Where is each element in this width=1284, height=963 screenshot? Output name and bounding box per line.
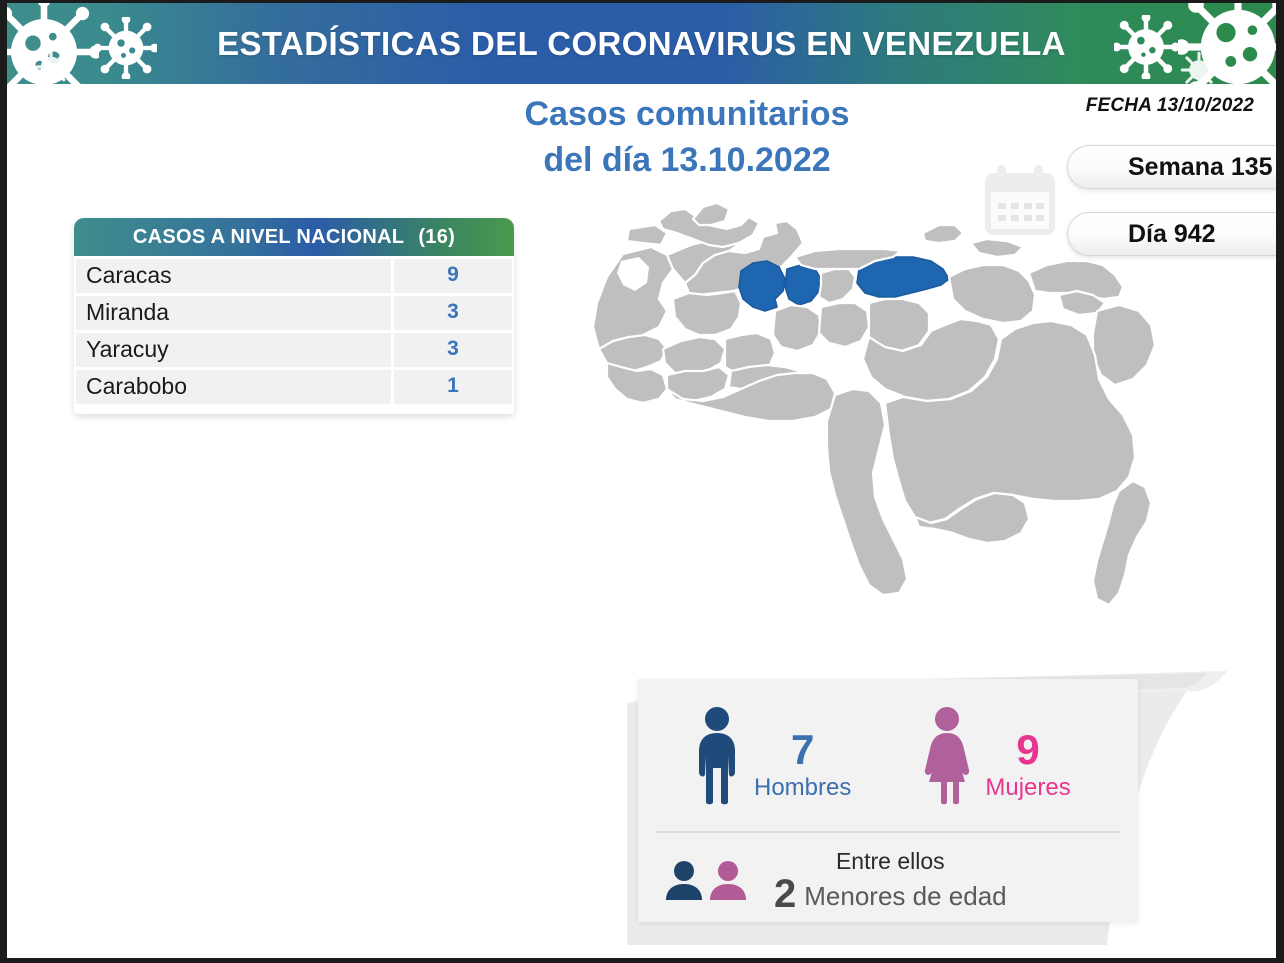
badge-semana[interactable]: Semana 135 (1067, 145, 1284, 189)
men-text: 7 Hombres (754, 730, 851, 802)
map-state (1093, 481, 1151, 605)
map-state (673, 291, 741, 335)
minors-prefix: Entre ellos (774, 848, 1007, 875)
state-cases: 1 (394, 370, 512, 404)
table-row: Yaracuy 3 (74, 333, 514, 367)
panel-divider (656, 831, 1120, 833)
map-state (819, 269, 855, 303)
table-header: CASOS A NIVEL NACIONAL (16) (74, 218, 514, 256)
minors-text: Entre ellos 2 Menores de edad (774, 848, 1007, 912)
state-name: Caracas (76, 259, 391, 293)
table-row: Carabobo 1 (74, 370, 514, 404)
banner-title: ESTADÍSTICAS DEL CORONAVIRUS EN VENEZUEL… (7, 3, 1276, 84)
fecha-label: FECHA 13/10/2022 (1086, 95, 1254, 117)
map-state (949, 265, 1035, 323)
minors-icons (664, 858, 748, 902)
badge-semana-label: Semana 135 (1128, 153, 1273, 182)
map-state-highlight-yaracuy (739, 261, 785, 311)
page-subtitle: Casos comunitarios del día 13.10.2022 (337, 91, 1037, 183)
header-banner: ESTADÍSTICAS DEL CORONAVIRUS EN VENEZUEL… (7, 3, 1276, 84)
demographics-panel: 7 Hombres 9 Mujeres (638, 679, 1138, 922)
national-cases-table: CASOS A NIVEL NACIONAL (16) Caracas 9 Mi… (74, 218, 514, 414)
male-figure-icon (694, 706, 740, 806)
table-row: Caracas 9 (74, 259, 514, 293)
men-count: 7 (754, 730, 851, 770)
map-state (971, 239, 1023, 257)
table-row: Miranda 3 (74, 296, 514, 330)
women-text: 9 Mujeres (985, 730, 1070, 802)
subtitle-line-2: del día 13.10.2022 (337, 137, 1037, 183)
gender-row: 7 Hombres 9 Mujeres (638, 697, 1138, 815)
men-stat: 7 Hombres (694, 706, 851, 806)
state-name: Miranda (76, 296, 391, 330)
table-header-label: CASOS A NIVEL NACIONAL (133, 226, 404, 249)
state-cases: 3 (394, 296, 512, 330)
map-state (923, 225, 963, 243)
female-figure-icon (923, 706, 971, 806)
male-bust-icon (664, 858, 704, 902)
state-name: Carabobo (76, 370, 391, 404)
infographic-canvas: ESTADÍSTICAS DEL CORONAVIRUS EN VENEZUEL… (0, 0, 1284, 963)
map-state (819, 303, 869, 347)
state-cases: 3 (394, 333, 512, 367)
state-cases: 9 (394, 259, 512, 293)
map-state (773, 305, 821, 351)
map-state (1093, 305, 1155, 385)
map-state (627, 225, 667, 245)
men-label: Hombres (754, 774, 851, 802)
minors-label: Menores de edad (804, 881, 1006, 912)
subtitle-line-1: Casos comunitarios (337, 91, 1037, 137)
map-state-highlight-carabobo (785, 265, 821, 305)
minors-row: Entre ellos 2 Menores de edad (638, 845, 1138, 915)
female-bust-icon (708, 858, 748, 902)
women-stat: 9 Mujeres (923, 706, 1070, 806)
state-name: Yaracuy (76, 333, 391, 367)
table-footer-spacer (74, 404, 514, 414)
minors-count: 2 (774, 876, 796, 912)
map-state (693, 203, 729, 225)
table-header-count: (16) (418, 226, 455, 249)
venezuela-map (563, 199, 1203, 669)
women-label: Mujeres (985, 774, 1070, 802)
women-count: 9 (985, 730, 1070, 770)
